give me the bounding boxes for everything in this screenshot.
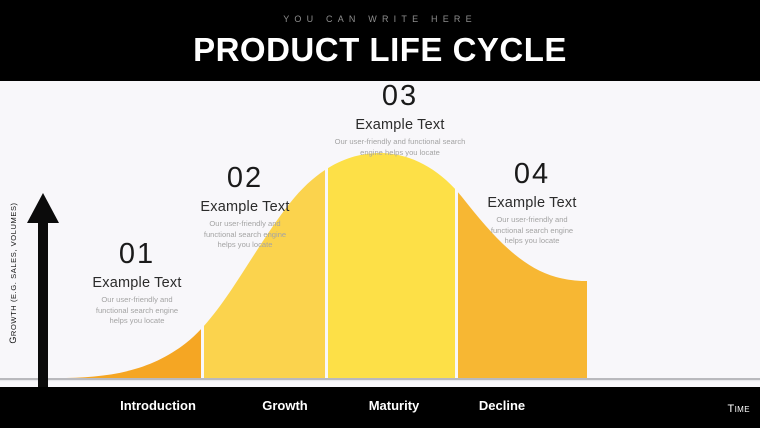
callout-body: Our user-friendly and functional search … [300, 137, 500, 158]
x-axis-label-rest: IME [735, 405, 750, 414]
callout-body-line: functional search engine [467, 226, 597, 237]
callout-block-01[interactable]: 01 Example Text Our user-friendly and fu… [76, 238, 198, 327]
callout-heading: Example Text [76, 274, 198, 292]
callout-body-line: helps you locate [467, 236, 597, 247]
callout-body-line: Our user-friendly and functional search [300, 137, 500, 148]
callout-body-line: helps you locate [180, 240, 310, 251]
callout-body-line: helps you locate [76, 316, 198, 327]
stage-label-introduction[interactable]: Introduction [98, 398, 218, 413]
callout-body: Our user-friendly and functional search … [180, 219, 310, 251]
page-title: PRODUCT LIFE CYCLE [0, 31, 760, 69]
callout-heading: Example Text [300, 116, 500, 134]
callout-body: Our user-friendly and functional search … [76, 295, 198, 327]
callout-body-line: Our user-friendly and [467, 215, 597, 226]
y-axis-label-rest: ROWTH (E.G. SALES, VOLUMES) [9, 202, 18, 336]
callout-number: 03 [300, 80, 500, 112]
x-axis-label-initial: T [727, 403, 734, 415]
callout-block-04[interactable]: 04 Example Text Our user-friendly and fu… [467, 158, 597, 247]
kicker-text: YOU CAN WRITE HERE [0, 14, 760, 24]
callout-body-line: functional search engine [180, 230, 310, 241]
stage-label-growth[interactable]: Growth [225, 398, 345, 413]
y-axis-label-initial: G [8, 336, 18, 344]
y-axis-label: GROWTH (E.G. SALES, VOLUMES) [8, 168, 18, 378]
callout-body-line: engine helps you locate [300, 148, 500, 159]
callout-number: 04 [467, 158, 597, 190]
header-bar: YOU CAN WRITE HERE PRODUCT LIFE CYCLE [0, 0, 760, 81]
callout-body: Our user-friendly and functional search … [467, 215, 597, 247]
callout-body-line: Our user-friendly and [180, 219, 310, 230]
slide-canvas: YOU CAN WRITE HERE PRODUCT LIFE CYCLE [0, 0, 760, 428]
callout-number: 02 [180, 162, 310, 194]
x-axis-line-shadow [0, 380, 760, 381]
stage-label-decline[interactable]: Decline [442, 398, 562, 413]
callout-block-02[interactable]: 02 Example Text Our user-friendly and fu… [180, 162, 310, 251]
up-arrow-icon [26, 193, 60, 389]
callout-heading: Example Text [467, 194, 597, 212]
callout-body-line: Our user-friendly and [76, 295, 198, 306]
callout-heading: Example Text [180, 198, 310, 216]
stage-label-maturity[interactable]: Maturity [334, 398, 454, 413]
x-axis-label: TIME [727, 403, 750, 415]
footer-bar: Introduction Growth Maturity Decline TIM… [0, 387, 760, 428]
callout-block-03[interactable]: 03 Example Text Our user-friendly and fu… [300, 80, 500, 158]
x-axis-line [0, 378, 760, 380]
callout-body-line: functional search engine [76, 306, 198, 317]
